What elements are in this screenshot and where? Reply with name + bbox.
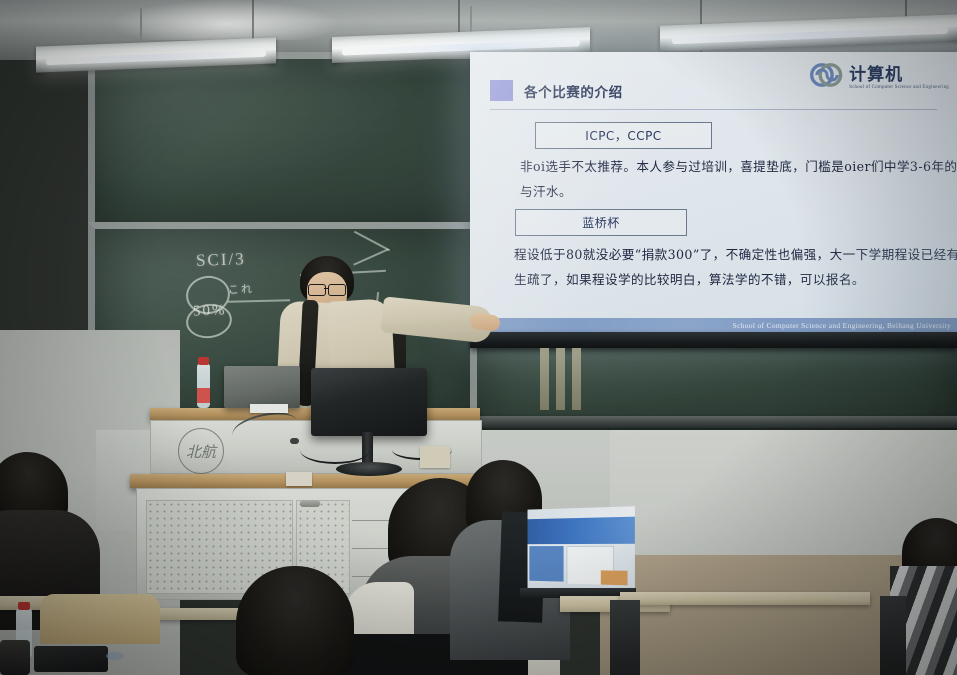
screen-strap	[556, 348, 565, 410]
chair-back	[40, 594, 160, 644]
competition-box-icpc-label: ICPC，CCPC	[585, 127, 661, 144]
podium-drawer-handle	[300, 500, 320, 507]
glasses-right-lens	[328, 284, 346, 296]
microphone-head	[290, 438, 299, 444]
classroom-photo: SCI/3 これ 50% 计算机 School of Computer Scie…	[0, 0, 957, 675]
cup-on-desk	[0, 640, 30, 675]
desk-leg	[880, 596, 906, 675]
blackboard-sheen	[95, 59, 485, 234]
page-banner	[528, 517, 635, 545]
screen-strap	[540, 348, 549, 410]
slide-footer-text: School of Computer Science and Engineeri…	[733, 321, 951, 330]
lecture-monitor	[311, 368, 427, 436]
lamp-tube	[46, 50, 267, 65]
desk-sticker	[106, 652, 124, 660]
logo-chinese-text: 计算机	[849, 60, 949, 85]
slide-title-row: 各个比赛的介绍	[490, 80, 623, 101]
competition-box-lanqiao-label: 蓝桥杯	[582, 214, 620, 231]
bottle-cap	[18, 602, 30, 610]
competition-box-icpc: ICPC，CCPC	[535, 122, 712, 149]
competition-box-lanqiao: 蓝桥杯	[515, 209, 687, 236]
title-divider	[490, 109, 937, 110]
slide-paragraph-1: 非oi选手不太推荐。本人参与过培训，喜提垫底，门槛是oier们中学3-6年的努力…	[520, 154, 957, 204]
student-laptop-screen	[528, 506, 635, 592]
cable-bundle	[300, 436, 370, 464]
ceiling-glare	[110, 0, 340, 40]
student-desk-right	[620, 592, 870, 605]
spiral-logo-icon	[810, 58, 844, 92]
page-thumbnail	[601, 570, 628, 585]
lecture-laptop	[224, 366, 300, 408]
desk-leg	[610, 600, 640, 675]
student-front-left-hair	[236, 566, 354, 675]
chalk-note: SCI/3	[196, 249, 246, 271]
glasses-left-lens	[308, 284, 326, 296]
logo-english-text: School of Computer Science and Engineeri…	[849, 85, 949, 90]
emblem-text: 北航	[186, 441, 216, 462]
projection-screen: 计算机 School of Computer Science and Engin…	[470, 52, 957, 335]
chalk-rail-right	[470, 416, 957, 428]
smartphone-on-desk	[34, 646, 108, 672]
university-emblem: 北航	[178, 428, 224, 474]
school-logo: 计算机 School of Computer Science and Engin…	[810, 58, 949, 92]
monitor-base	[336, 462, 402, 476]
screen-strap	[572, 348, 581, 410]
chalk-note: 50%	[193, 302, 227, 320]
glasses-bridge	[324, 288, 328, 289]
projection-screen-bottom-bar	[470, 332, 957, 348]
lamp-tube	[672, 27, 948, 45]
box-on-desk	[420, 446, 450, 468]
switch-plate	[286, 472, 312, 486]
bottle-label	[197, 388, 210, 403]
slide-title: 各个比赛的介绍	[524, 81, 623, 101]
chalk-note: これ	[228, 281, 255, 298]
slide-paragraph-2: 程设低于80就没必要“捐款300”了，不确定性也偏强，大一下学期程设已经有点生疏…	[514, 242, 957, 292]
lamp-rod	[140, 8, 142, 42]
bottle-cap	[198, 357, 209, 365]
title-bullet-square	[490, 80, 513, 101]
page-sidebar	[529, 546, 564, 582]
paper-on-desk	[250, 404, 288, 413]
blackboard-panel-upper-left	[88, 52, 492, 241]
lamp-rod	[470, 6, 472, 32]
